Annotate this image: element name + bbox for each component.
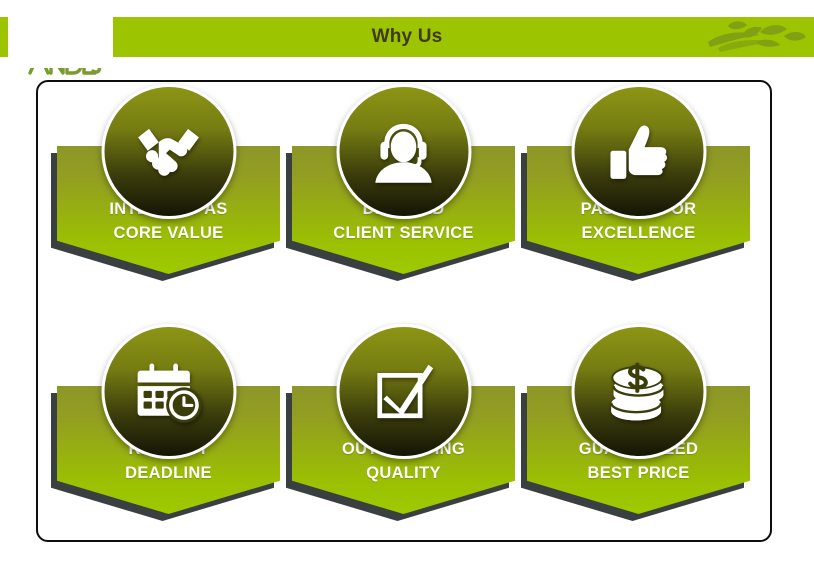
card-label-line2: QUALITY: [292, 462, 515, 486]
benefit-card-integrity-as-core-value[interactable]: INTEGRITY AS CORE VALUE: [57, 146, 280, 346]
card-label-line2: EXCELLENCE: [527, 222, 750, 246]
coins-dollar-icon: [601, 354, 677, 430]
card-label-line2: DEADLINE: [57, 462, 280, 486]
page-header: Why Us: [0, 17, 814, 57]
logo-plate: [8, 0, 113, 68]
benefits-grid: INTEGRITY AS CORE VALUE DEVOTED C: [36, 80, 772, 542]
checkbox-check-icon: [366, 354, 442, 430]
badge-circle: [101, 84, 236, 219]
benefit-card-respect-deadline[interactable]: RESPECT DEADLINE: [57, 386, 280, 586]
benefit-card-outstanding-quality[interactable]: OUTSTANDING QUALITY: [292, 386, 515, 586]
headset-support-icon: [363, 111, 445, 193]
badge-circle: [571, 84, 706, 219]
badge-circle: [336, 324, 471, 459]
benefit-card-passion-for-excellence[interactable]: PASSION FOR EXCELLENCE: [527, 146, 750, 346]
benefit-card-guaranteed-best-price[interactable]: GUARANTEED BEST PRICE: [527, 386, 750, 586]
thumbs-up-icon: [600, 113, 678, 191]
badge-circle: [101, 324, 236, 459]
handshake-icon: [130, 113, 208, 191]
calendar-clock-icon: [131, 354, 207, 430]
leaf-branch-icon: [698, 18, 808, 56]
card-label-line2: CLIENT SERVICE: [292, 222, 515, 246]
benefit-card-devoted-client-service[interactable]: DEVOTED CLIENT SERVICE: [292, 146, 515, 346]
card-label-line2: BEST PRICE: [527, 462, 750, 486]
card-label-line2: CORE VALUE: [57, 222, 280, 246]
page-title: Why Us: [0, 17, 814, 57]
badge-circle: [336, 84, 471, 219]
badge-circle: [571, 324, 706, 459]
